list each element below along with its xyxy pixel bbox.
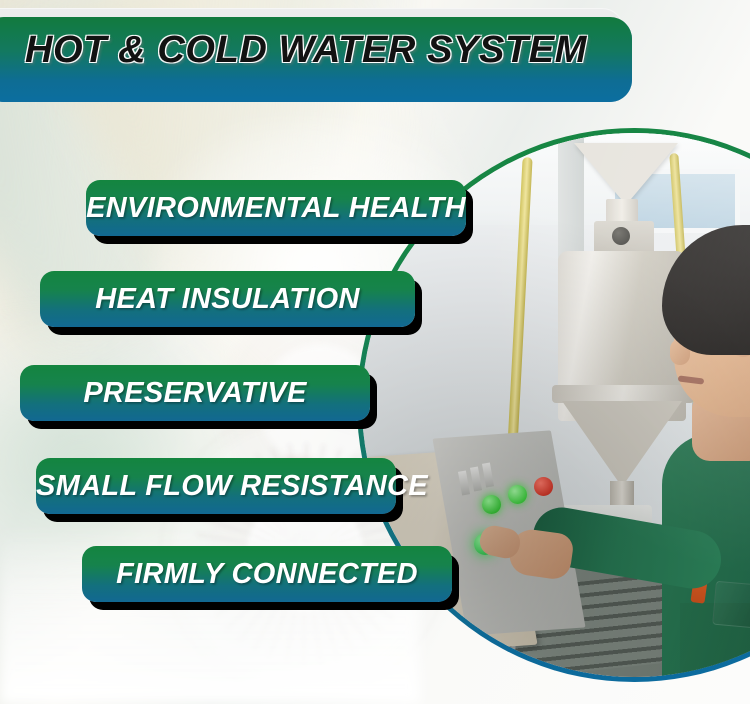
page-title-banner: HOT & COLD WATER SYSTEM xyxy=(0,8,624,93)
page-title: HOT & COLD WATER SYSTEM xyxy=(25,29,587,72)
poster-canvas: HOT & COLD WATER SYSTEM xyxy=(0,0,750,704)
feature-label: FIRMLY CONNECTED xyxy=(82,558,452,591)
feature-banner-heat-insulation: HEAT INSULATION xyxy=(40,271,415,327)
feature-label: HEAT INSULATION xyxy=(40,283,415,316)
photo-machine-recess xyxy=(480,673,532,677)
photo-red-button xyxy=(534,477,553,496)
photo-green-button-2 xyxy=(508,485,527,504)
feature-label: PRESERVATIVE xyxy=(20,377,370,410)
feature-banner-environmental-health: ENVIRONMENTAL HEALTH xyxy=(86,180,466,236)
photo-green-button-1 xyxy=(482,495,501,514)
feature-label: SMALL FLOW RESISTANCE xyxy=(36,470,396,503)
photo-hopper-knob xyxy=(612,227,630,245)
feature-banner-firmly-connected: FIRMLY CONNECTED xyxy=(82,546,452,602)
photo-worker-pocket xyxy=(712,581,750,630)
feature-label: ENVIRONMENTAL HEALTH xyxy=(86,192,466,225)
feature-banner-small-flow-resistance: SMALL FLOW RESISTANCE xyxy=(36,458,396,514)
photo-hopper-cone xyxy=(574,143,678,205)
feature-banner-preservative: PRESERVATIVE xyxy=(20,365,370,421)
